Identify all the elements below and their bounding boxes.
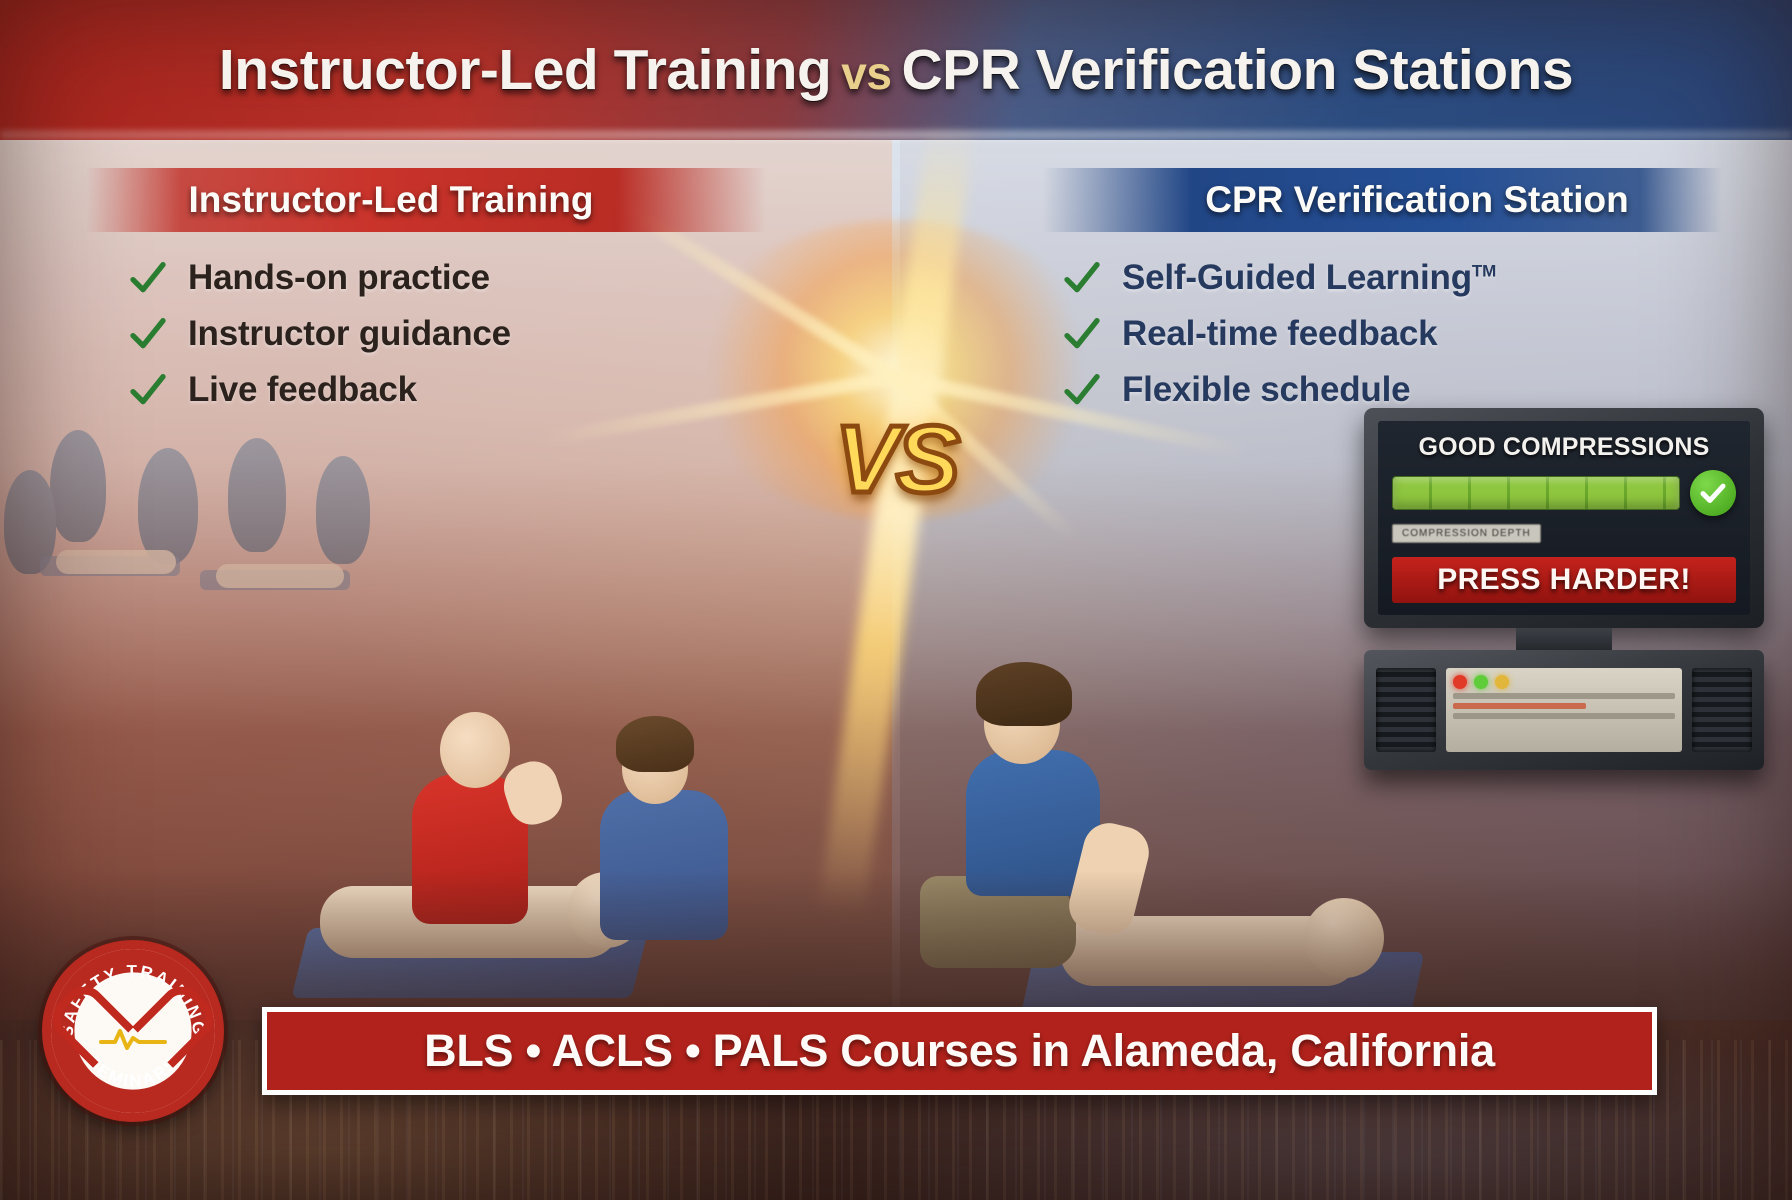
led-red-icon <box>1453 675 1467 689</box>
list-item-label: Instructor guidance <box>188 314 511 354</box>
cta-banner[interactable]: BLS • ACLS • PALS Courses in Alameda, Ca… <box>262 1007 1657 1095</box>
list-item: Self-Guided LearningTM <box>1042 258 1722 298</box>
list-item-label: Hands-on practice <box>188 258 490 298</box>
check-icon <box>1062 314 1102 354</box>
title-vs-text: vs <box>841 47 891 99</box>
page-title: Instructor-Led TrainingvsCPR Verificatio… <box>219 37 1573 103</box>
monitor-bezel: GOOD COMPRESSIONS COMPRESSION DEPTH PRES… <box>1364 408 1764 628</box>
monitor-screen: GOOD COMPRESSIONS COMPRESSION DEPTH PRES… <box>1378 421 1750 615</box>
base-vent-right <box>1692 668 1752 752</box>
company-logo-badge: SAFETY TRAINING SEMINARS <box>42 940 224 1122</box>
title-right-text: CPR Verification Stations <box>901 38 1573 102</box>
list-item: Hands-on practice <box>86 258 766 298</box>
list-item: Real-time feedback <box>1042 314 1722 354</box>
check-icon <box>1062 258 1102 298</box>
base-text-line <box>1453 703 1586 709</box>
monitor-alert-banner: PRESS HARDER! <box>1392 557 1736 603</box>
check-icon <box>1062 370 1102 410</box>
list-item-label: Live feedback <box>188 370 417 410</box>
list-item: Instructor guidance <box>86 314 766 354</box>
base-vent-left <box>1376 668 1436 752</box>
monitor-progress-row <box>1392 470 1736 516</box>
check-circle-icon <box>1690 470 1736 516</box>
list-item: Live feedback <box>86 370 766 410</box>
base-text-line <box>1453 713 1675 719</box>
led-green-icon <box>1474 675 1488 689</box>
list-item-label: Real-time feedback <box>1122 314 1437 354</box>
cta-text: BLS • ACLS • PALS Courses in Alameda, Ca… <box>424 1025 1495 1077</box>
monitor-status-title: GOOD COMPRESSIONS <box>1392 433 1736 462</box>
poster-root: GOOD COMPRESSIONS COMPRESSION DEPTH PRES… <box>0 0 1792 1200</box>
base-panel <box>1446 668 1682 752</box>
monitor-sub-label: COMPRESSION DEPTH <box>1392 524 1541 543</box>
trademark-symbol: TM <box>1472 261 1496 280</box>
base-led-row <box>1453 675 1675 689</box>
left-column-heading: Instructor-Led Training <box>86 168 766 232</box>
title-left-text: Instructor-Led Training <box>219 38 831 102</box>
vs-badge: VS <box>835 405 957 515</box>
list-item-label: Self-Guided LearningTM <box>1122 258 1496 298</box>
comparison-column-right: CPR Verification Station Self-Guided Lea… <box>1042 168 1722 426</box>
compression-quality-bar <box>1392 476 1680 510</box>
comparison-column-left: Instructor-Led Training Hands-on practic… <box>86 168 766 426</box>
monitor-base-unit <box>1364 650 1764 770</box>
led-amber-icon <box>1495 675 1509 689</box>
check-icon <box>128 370 168 410</box>
base-text-line <box>1453 693 1675 699</box>
list-item-label: Flexible schedule <box>1122 370 1410 410</box>
left-bullet-list: Hands-on practice Instructor guidance Li… <box>86 258 766 410</box>
right-bullet-list: Self-Guided LearningTM Real-time feedbac… <box>1042 258 1722 410</box>
check-icon <box>128 314 168 354</box>
right-column-heading: CPR Verification Station <box>1042 168 1722 232</box>
poster-title-bar: Instructor-Led TrainingvsCPR Verificatio… <box>0 0 1792 140</box>
check-icon <box>128 258 168 298</box>
cpr-feedback-monitor: GOOD COMPRESSIONS COMPRESSION DEPTH PRES… <box>1364 408 1764 770</box>
list-item: Flexible schedule <box>1042 370 1722 410</box>
list-item-text: Self-Guided Learning <box>1122 258 1472 297</box>
heart-ekg-icon <box>91 992 175 1070</box>
